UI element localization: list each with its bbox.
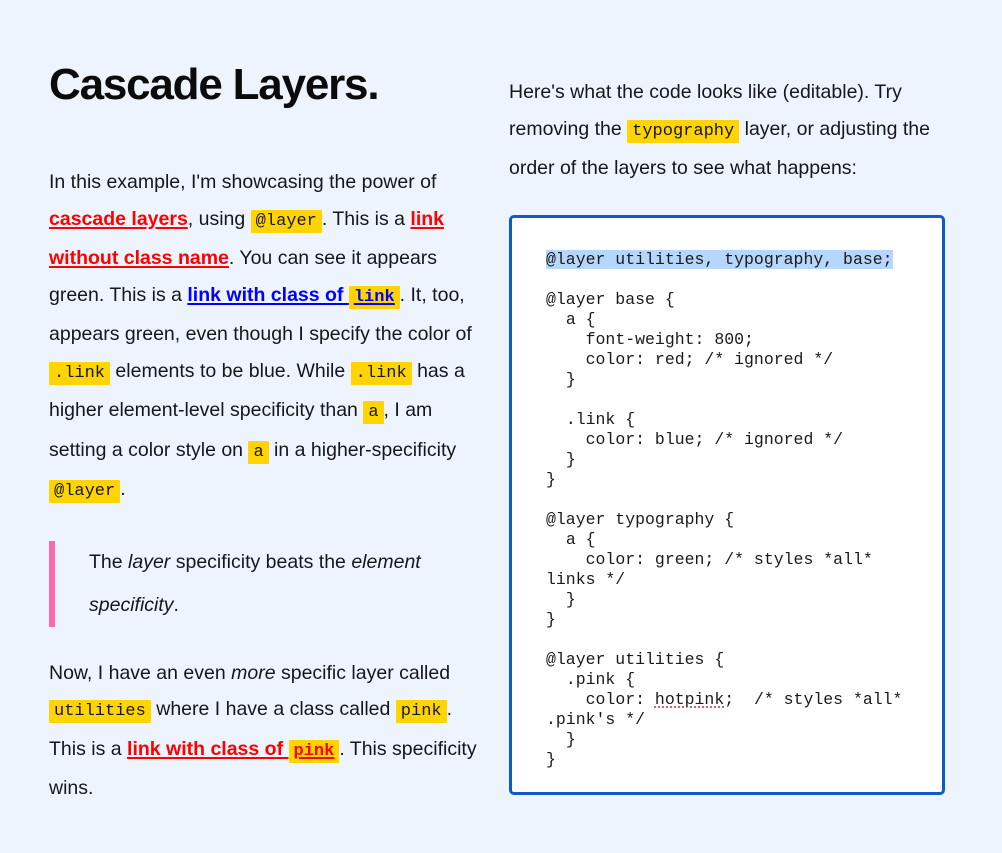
left-column: Cascade Layers. In this example, I'm sho… xyxy=(49,62,481,853)
right-column: Here's what the code looks like (editabl… xyxy=(509,62,952,853)
page-title: Cascade Layers. xyxy=(49,62,481,108)
code-typography: typography xyxy=(627,120,739,143)
code-link: link xyxy=(349,286,400,309)
code-dot-link-1: .link xyxy=(49,362,110,385)
code-intro-text: Here's what the code looks like (editabl… xyxy=(509,74,952,187)
text-fragment: . xyxy=(174,594,179,616)
link-with-class-of-pink[interactable]: link with class of pink xyxy=(127,738,339,760)
text-fragment: In this example, I'm showcasing the powe… xyxy=(49,171,436,193)
emphasis-layer: layer xyxy=(128,551,170,573)
code-selected-line[interactable]: @layer utilities, typography, base; xyxy=(546,250,893,269)
page-root: Cascade Layers. In this example, I'm sho… xyxy=(0,0,1002,853)
intro-paragraph: In this example, I'm showcasing the powe… xyxy=(49,164,481,511)
utilities-paragraph: Now, I have an even more specific layer … xyxy=(49,655,481,807)
code-editor-panel[interactable]: @layer utilities, typography, base; @lay… xyxy=(509,215,945,795)
text-fragment: where I have a class called xyxy=(151,698,396,720)
text-fragment: The xyxy=(89,551,128,573)
link-label: link with class of xyxy=(127,738,288,760)
code-pink-link: pink xyxy=(289,740,340,763)
code-misspelled-hotpink[interactable]: hotpink xyxy=(655,690,724,709)
code-a-1: a xyxy=(363,401,383,424)
text-fragment: . This is a xyxy=(322,208,411,230)
text-fragment: . xyxy=(120,478,125,500)
code-editor-content[interactable]: @layer utilities, typography, base; @lay… xyxy=(546,250,920,770)
code-a-2: a xyxy=(248,441,268,464)
code-pink: pink xyxy=(396,700,447,723)
link-with-class-of-link[interactable]: link with class of link xyxy=(187,284,399,306)
text-fragment: elements to be blue. While xyxy=(110,360,351,382)
emphasis-more: more xyxy=(231,662,275,684)
link-cascade-layers[interactable]: cascade layers xyxy=(49,208,188,230)
code-body-part-1[interactable]: @layer base { a { font-weight: 800; colo… xyxy=(546,290,883,709)
code-utilities: utilities xyxy=(49,700,151,723)
link-label: link with class of xyxy=(187,284,348,306)
code-dot-link-2: .link xyxy=(351,362,412,385)
code-at-layer-2: @layer xyxy=(49,480,120,503)
text-fragment: in a higher-specificity xyxy=(269,439,457,461)
text-fragment: , using xyxy=(188,208,251,230)
text-fragment: specific layer called xyxy=(276,662,451,684)
text-fragment: specificity beats the xyxy=(170,551,351,573)
text-fragment: Now, I have an even xyxy=(49,662,231,684)
blockquote-layer-specificity: The layer specificity beats the element … xyxy=(49,541,481,627)
code-at-layer: @layer xyxy=(251,210,322,233)
